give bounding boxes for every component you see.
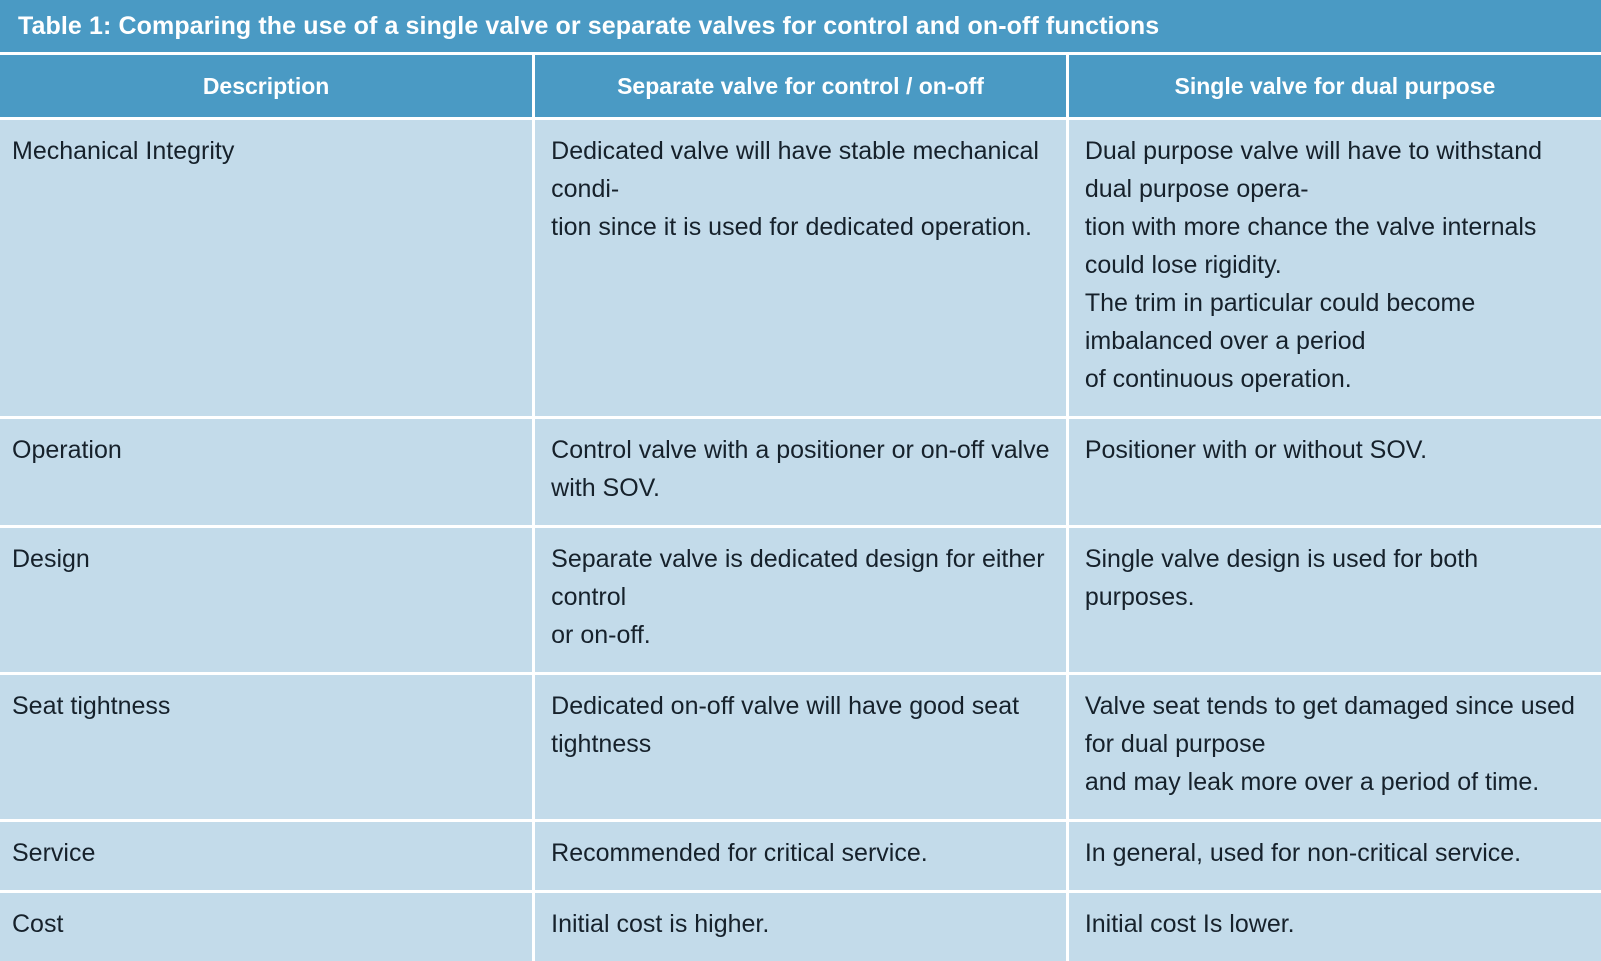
cell-single-valve: Single valve design is used for both pur… — [1067, 527, 1601, 674]
cell-line: In general, used for non-critical servic… — [1085, 834, 1585, 872]
cell-single-valve: In general, used for non-critical servic… — [1067, 821, 1601, 892]
row-description: Cost — [0, 892, 534, 961]
cell-line: and may leak more over a period of time. — [1085, 763, 1585, 801]
table-head: Table 1: Comparing the use of a single v… — [0, 0, 1601, 119]
cell-line: Dual purpose valve will have to withstan… — [1085, 132, 1585, 208]
row-description: Mechanical Integrity — [0, 119, 534, 418]
table-container: Table 1: Comparing the use of a single v… — [0, 0, 1601, 622]
cell-single-valve: Positioner with or without SOV. — [1067, 418, 1601, 527]
comparison-table: Table 1: Comparing the use of a single v… — [0, 0, 1601, 961]
table-row: Seat tightness Dedicated on-off valve wi… — [0, 674, 1601, 821]
table-title-row: Table 1: Comparing the use of a single v… — [0, 0, 1601, 54]
cell-line: Single valve design is used for both pur… — [1085, 540, 1585, 616]
row-description: Operation — [0, 418, 534, 527]
cell-line: Recommended for critical service. — [551, 834, 1050, 872]
column-header-separate-valve: Separate valve for control / on-off — [534, 54, 1068, 119]
column-header-description: Description — [0, 54, 534, 119]
row-description: Service — [0, 821, 534, 892]
table-row: Mechanical Integrity Dedicated valve wil… — [0, 119, 1601, 418]
cell-line: Separate valve is dedicated design for e… — [551, 540, 1050, 616]
cell-line: The trim in particular could become imba… — [1085, 284, 1585, 360]
cell-line: Initial cost is higher. — [551, 905, 1050, 943]
table-row: Operation Control valve with a positione… — [0, 418, 1601, 527]
cell-line: Valve seat tends to get damaged since us… — [1085, 687, 1585, 763]
cell-single-valve: Valve seat tends to get damaged since us… — [1067, 674, 1601, 821]
cell-line: Dedicated on-off valve will have good se… — [551, 687, 1050, 763]
cell-separate-valve: Recommended for critical service. — [534, 821, 1068, 892]
cell-separate-valve: Dedicated valve will have stable mechani… — [534, 119, 1068, 418]
cell-line: tion since it is used for dedicated oper… — [551, 208, 1050, 246]
cell-line: Positioner with or without SOV. — [1085, 431, 1585, 469]
cell-line: tion with more chance the valve internal… — [1085, 208, 1585, 284]
table-title: Table 1: Comparing the use of a single v… — [0, 0, 1601, 54]
cell-line: Dedicated valve will have stable mechani… — [551, 132, 1050, 208]
cell-single-valve: Initial cost Is lower. — [1067, 892, 1601, 961]
table-row: Design Separate valve is dedicated desig… — [0, 527, 1601, 674]
cell-line: of continuous operation. — [1085, 360, 1585, 398]
cell-line: Control valve with a positioner or on-of… — [551, 431, 1050, 507]
column-header-single-valve: Single valve for dual purpose — [1067, 54, 1601, 119]
table-header-row: Description Separate valve for control /… — [0, 54, 1601, 119]
cell-separate-valve: Initial cost is higher. — [534, 892, 1068, 961]
table-row: Service Recommended for critical service… — [0, 821, 1601, 892]
cell-separate-valve: Separate valve is dedicated design for e… — [534, 527, 1068, 674]
cell-line: Initial cost Is lower. — [1085, 905, 1585, 943]
table-body: Mechanical Integrity Dedicated valve wil… — [0, 119, 1601, 961]
cell-separate-valve: Control valve with a positioner or on-of… — [534, 418, 1068, 527]
table-row: Cost Initial cost is higher. Initial cos… — [0, 892, 1601, 961]
row-description: Seat tightness — [0, 674, 534, 821]
cell-separate-valve: Dedicated on-off valve will have good se… — [534, 674, 1068, 821]
cell-single-valve: Dual purpose valve will have to withstan… — [1067, 119, 1601, 418]
row-description: Design — [0, 527, 534, 674]
